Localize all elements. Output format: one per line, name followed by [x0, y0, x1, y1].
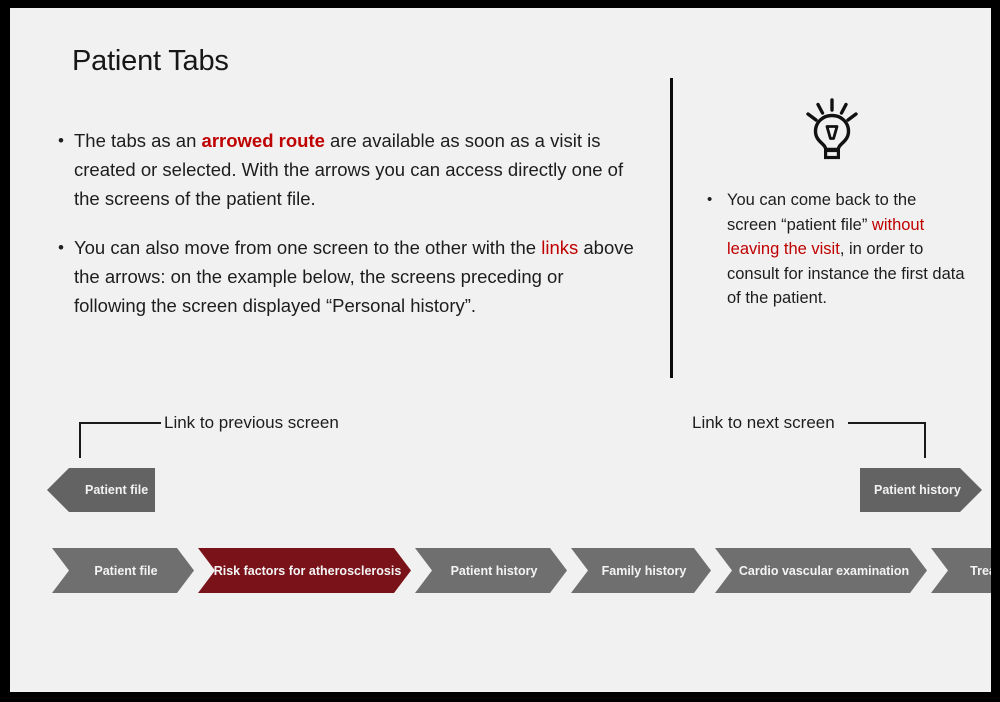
callout-next-patient-history[interactable]: Patient history: [860, 468, 982, 512]
bullet-seg-arrowed-route: arrowed route: [202, 130, 325, 151]
process-step-patient-file[interactable]: Patient file: [52, 548, 194, 593]
process-step-label: Risk factors for atherosclerosis: [202, 564, 408, 578]
process-step-label: Patient file: [82, 564, 163, 578]
slide-frame: Patient Tabs • The tabs as an arrowed ro…: [0, 0, 1000, 702]
bracket-next: [848, 422, 926, 458]
process-step-label: Patient history: [439, 564, 544, 578]
process-step-risk-factors[interactable]: Risk factors for atherosclerosis: [198, 548, 411, 593]
process-step-treatments[interactable]: Treatments: [931, 548, 991, 593]
process-step-label: Cardio vascular examination: [727, 564, 915, 578]
bullet-marker: •: [707, 188, 727, 213]
link-next-label: Link to next screen: [692, 413, 835, 433]
bullet-arrowed-route-text: The tabs as an arrowed route are availab…: [74, 126, 638, 213]
bracket-horizontal-segment: [848, 422, 926, 424]
bullet-links: • You can also move from one screen to t…: [58, 233, 638, 320]
callout-next-label: Patient history: [874, 483, 961, 497]
bracket-vertical-segment: [79, 422, 81, 458]
bullet-come-back: • You can come back to the screen “patie…: [707, 188, 967, 311]
bracket-previous: [79, 422, 161, 458]
process-chevron-bar: Patient file Risk factors for atheroscle…: [52, 548, 970, 593]
process-step-family-history[interactable]: Family history: [571, 548, 711, 593]
lightbulb-icon: [802, 98, 862, 162]
page-title: Patient Tabs: [72, 46, 229, 78]
process-step-label: Family history: [590, 564, 693, 578]
bullet-seg-plain-3: You can also move from one screen to the…: [74, 237, 541, 258]
vertical-divider: [670, 78, 673, 378]
bullet-marker: •: [58, 233, 74, 262]
bracket-horizontal-segment: [79, 422, 161, 424]
bullet-links-text: You can also move from one screen to the…: [74, 233, 638, 320]
bullet-marker: •: [58, 126, 74, 155]
bullet-seg-links: links: [541, 237, 578, 258]
bullet-seg-plain-1: The tabs as an: [74, 130, 202, 151]
slide-canvas: Patient Tabs • The tabs as an arrowed ro…: [10, 8, 991, 692]
callout-previous-patient-file[interactable]: Patient file: [47, 468, 155, 512]
callout-previous-label: Patient file: [85, 483, 148, 497]
bullet-come-back-text: You can come back to the screen “patient…: [727, 188, 967, 311]
bullet-arrowed-route: • The tabs as an arrowed route are avail…: [58, 126, 638, 213]
process-step-label: Treatments: [958, 564, 991, 578]
process-step-patient-history[interactable]: Patient history: [415, 548, 567, 593]
bracket-vertical-segment: [924, 422, 926, 458]
process-step-cardio-vascular-examination[interactable]: Cardio vascular examination: [715, 548, 927, 593]
link-previous-label: Link to previous screen: [164, 413, 339, 433]
